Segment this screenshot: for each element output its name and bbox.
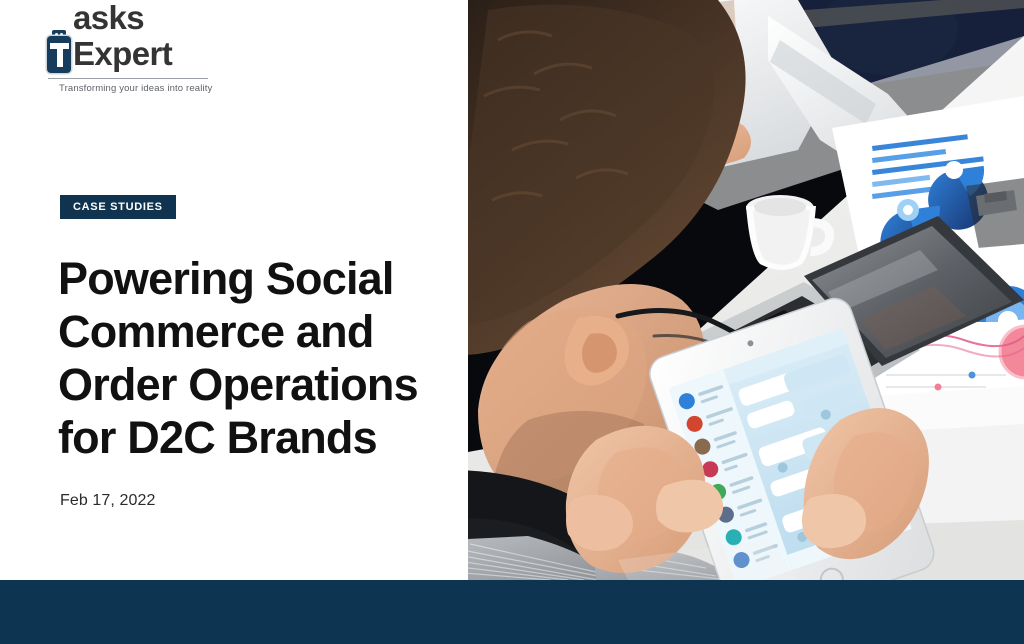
case-study-hero-page: asks Expert Transforming your ideas into… (0, 0, 1024, 644)
category-badge[interactable]: CASE STUDIES (60, 195, 176, 219)
hero-photo (468, 0, 1024, 580)
logo-tagline: Transforming your ideas into reality (59, 83, 226, 94)
footer-bar (0, 580, 1024, 644)
page-title: Powering Social Commerce and Order Opera… (58, 252, 458, 464)
logo-row: asks Expert (46, 28, 226, 74)
logo-divider (48, 78, 208, 79)
clipboard-t-icon (46, 30, 72, 74)
logo-wordmark: asks Expert (73, 0, 226, 74)
brand-logo[interactable]: asks Expert Transforming your ideas into… (46, 28, 226, 94)
left-content-panel: asks Expert Transforming your ideas into… (0, 0, 468, 580)
letter-t-stem (57, 43, 63, 67)
publish-date: Feb 17, 2022 (60, 492, 156, 510)
